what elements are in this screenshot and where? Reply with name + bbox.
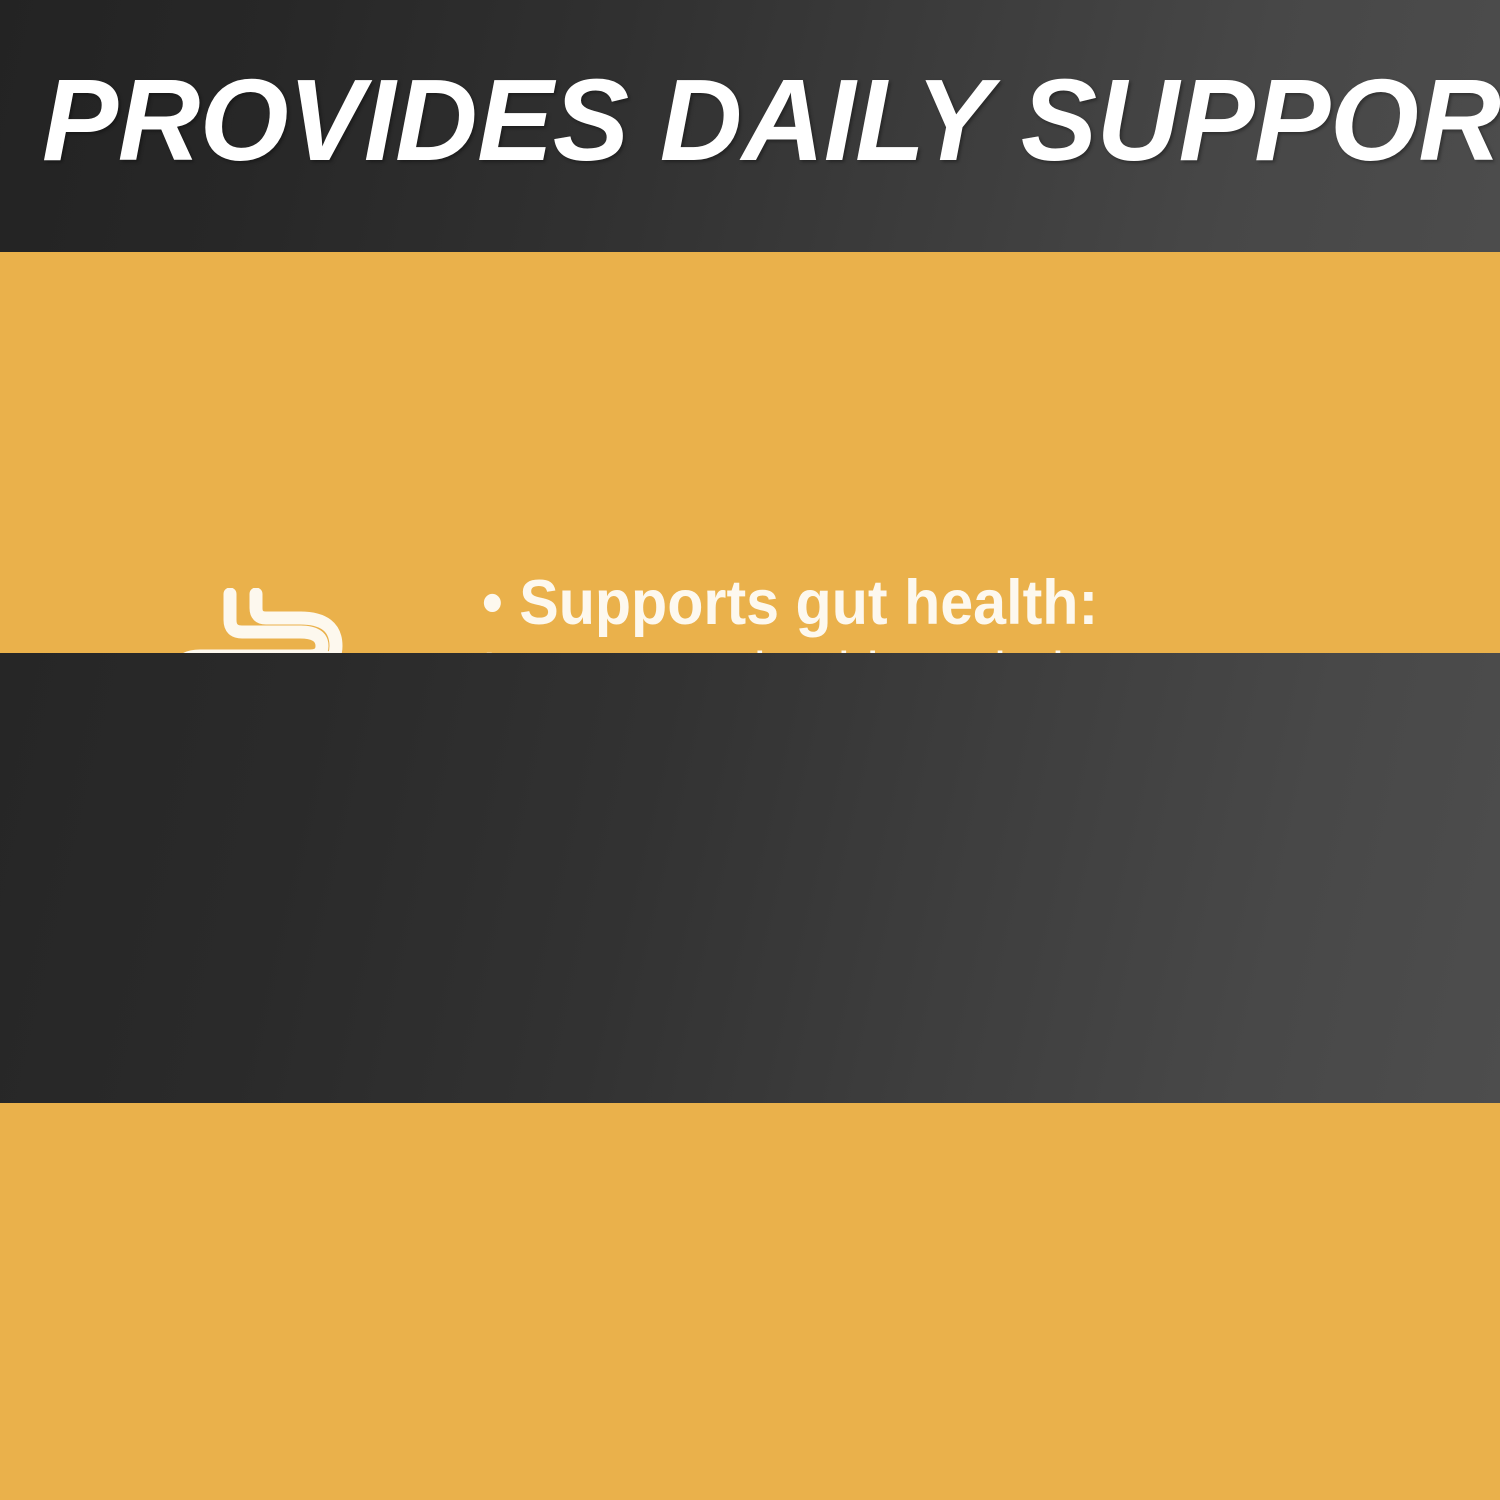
intestine-check-icon [160, 588, 380, 653]
gut-health-text-block: • Supports gut health: Improves microbio… [482, 567, 1229, 653]
gut-health-heading: • Supports gut health: [482, 567, 1184, 639]
bullet-icon: • [482, 567, 503, 639]
page-title: PROVIDES DAILY SUPPORT [42, 62, 1451, 178]
header-banner: PROVIDES DAILY SUPPORT [0, 0, 1500, 252]
section-digestive-health: • Supports digestive health: Occasional … [0, 653, 1500, 1103]
section-immune-health: •Supports immune health: Provides compre… [0, 1103, 1500, 1500]
section-gut-health: • Supports gut health: Improves microbio… [0, 252, 1500, 653]
gut-health-heading-label: Supports gut health: [519, 568, 1098, 638]
infographic-poster: PROVIDES DAILY SUPPORT [0, 0, 1500, 1500]
gut-health-line-1: Improves microbiome balance [482, 639, 1177, 653]
